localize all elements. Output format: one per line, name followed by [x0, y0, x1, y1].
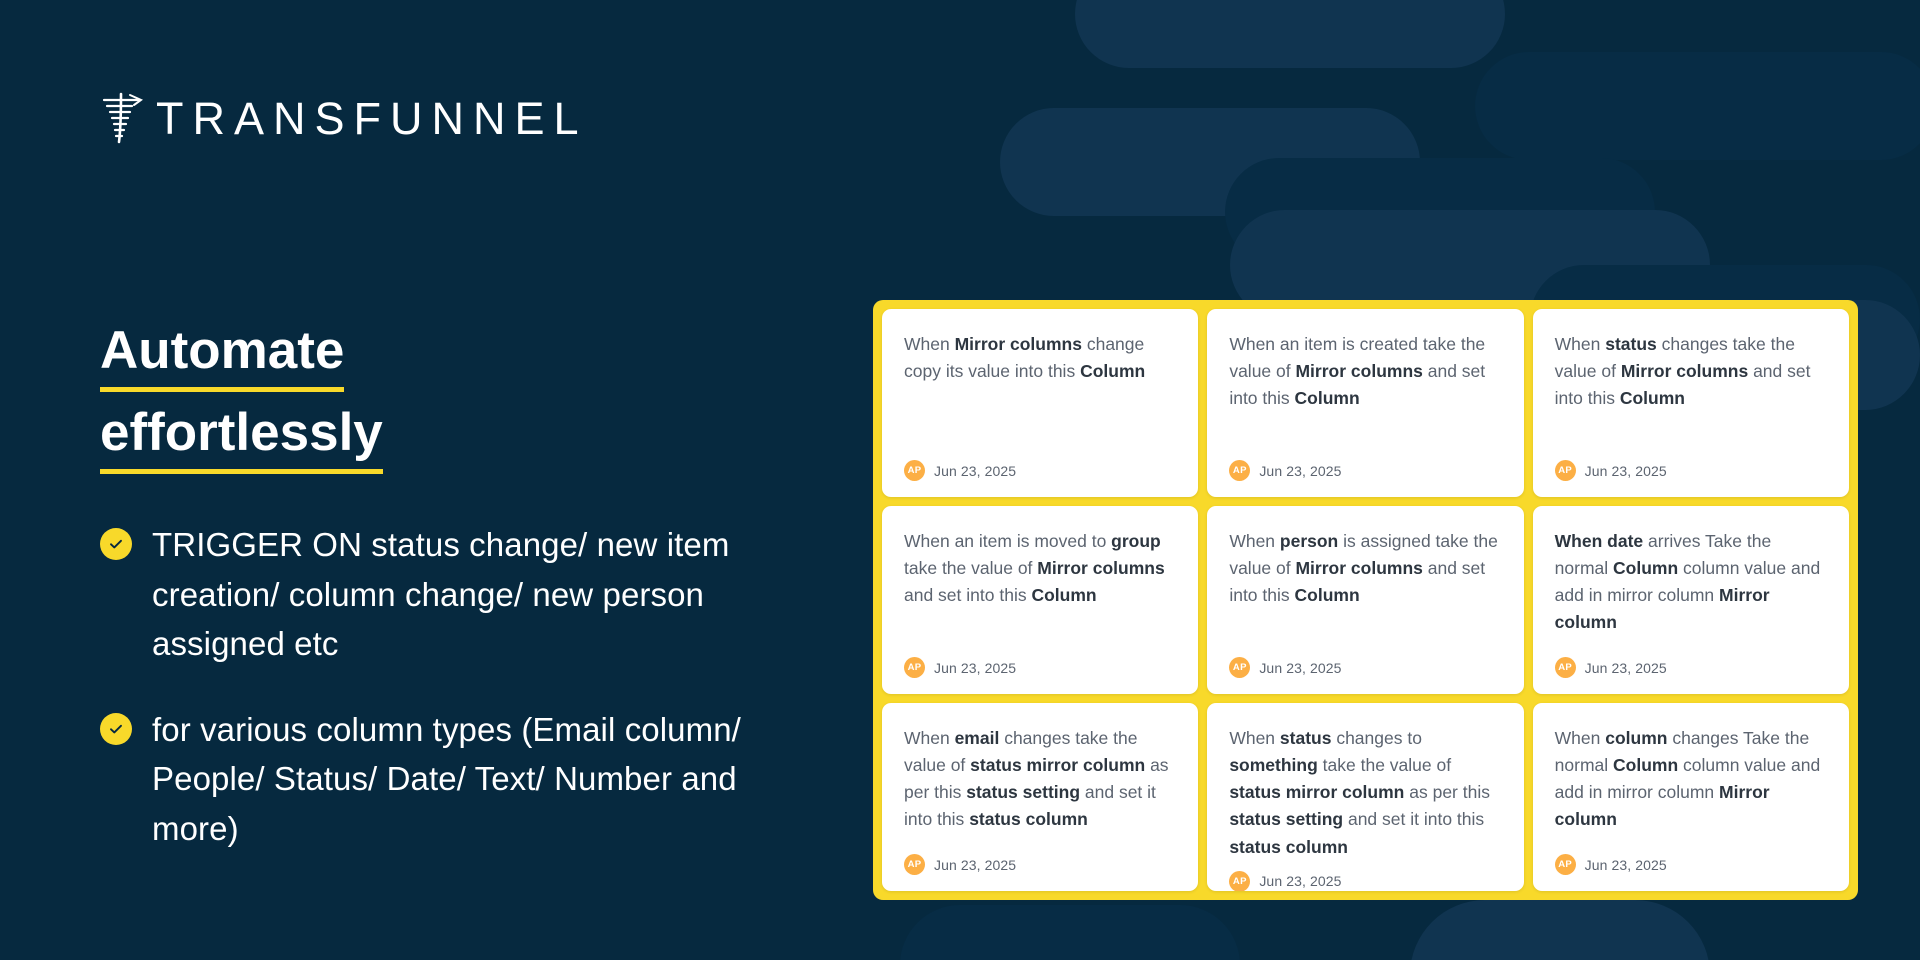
automation-card-footer: APJun 23, 2025: [904, 460, 1176, 481]
automation-card-footer: APJun 23, 2025: [1555, 657, 1827, 678]
headline-line-2: effortlessly: [100, 400, 383, 474]
automation-card-text: When person is assigned take the value o…: [1229, 528, 1501, 609]
automation-card[interactable]: When an item is created take the value o…: [1207, 309, 1523, 497]
brand-logo: TRANSFUNNEL: [100, 92, 588, 144]
avatar[interactable]: AP: [1229, 460, 1250, 481]
automation-card-text: When status changes to something take th…: [1229, 725, 1501, 861]
automation-card-date: Jun 23, 2025: [1259, 463, 1341, 479]
automation-card[interactable]: When column changes Take the normal Colu…: [1533, 703, 1849, 891]
avatar[interactable]: AP: [904, 460, 925, 481]
automation-card[interactable]: When status changes to something take th…: [1207, 703, 1523, 891]
automation-card[interactable]: When an item is moved to group take the …: [882, 506, 1198, 694]
automation-card-date: Jun 23, 2025: [1259, 660, 1341, 676]
automation-card-text: When status changes take the value of Mi…: [1555, 331, 1827, 412]
automation-card-footer: APJun 23, 2025: [904, 854, 1176, 875]
funnel-tornado-icon: [100, 92, 146, 144]
automation-card-date: Jun 23, 2025: [934, 463, 1016, 479]
bullet-text: for various column types (Email column/ …: [152, 705, 820, 854]
automation-card-text: When column changes Take the normal Colu…: [1555, 725, 1827, 834]
headline: Automate effortlessly: [100, 318, 720, 482]
deco-capsule: [1000, 108, 1420, 216]
bullet-list: TRIGGER ON status change/ new item creat…: [100, 520, 820, 889]
automation-card-date: Jun 23, 2025: [1585, 660, 1667, 676]
automation-card-footer: APJun 23, 2025: [1229, 871, 1501, 891]
deco-capsule: [1075, 0, 1505, 68]
automation-card[interactable]: When date arrives Take the normal Column…: [1533, 506, 1849, 694]
bullet-item: for various column types (Email column/ …: [100, 705, 820, 854]
automation-card-footer: APJun 23, 2025: [1555, 854, 1827, 875]
automation-card-text: When an item is moved to group take the …: [904, 528, 1176, 609]
deco-capsule: [1475, 52, 1920, 160]
deco-capsule: [900, 905, 1240, 960]
avatar[interactable]: AP: [904, 854, 925, 875]
deco-capsule: [1410, 900, 1710, 960]
avatar[interactable]: AP: [904, 657, 925, 678]
automation-card-date: Jun 23, 2025: [1259, 873, 1341, 889]
check-circle-icon: [100, 713, 132, 745]
automation-card[interactable]: When person is assigned take the value o…: [1207, 506, 1523, 694]
avatar[interactable]: AP: [1229, 657, 1250, 678]
automation-card[interactable]: When Mirror columns change copy its valu…: [882, 309, 1198, 497]
automation-card-date: Jun 23, 2025: [1585, 463, 1667, 479]
brand-name: TRANSFUNNEL: [156, 96, 588, 141]
automation-card[interactable]: When email changes take the value of sta…: [882, 703, 1198, 891]
headline-line-1: Automate: [100, 318, 344, 392]
check-circle-icon: [100, 528, 132, 560]
automation-card[interactable]: When status changes take the value of Mi…: [1533, 309, 1849, 497]
automation-card-footer: APJun 23, 2025: [1229, 657, 1501, 678]
automation-card-footer: APJun 23, 2025: [904, 657, 1176, 678]
automation-card-footer: APJun 23, 2025: [1229, 460, 1501, 481]
avatar[interactable]: AP: [1555, 460, 1576, 481]
automation-card-footer: APJun 23, 2025: [1555, 460, 1827, 481]
automation-card-date: Jun 23, 2025: [934, 660, 1016, 676]
automation-card-text: When date arrives Take the normal Column…: [1555, 528, 1827, 637]
bullet-text: TRIGGER ON status change/ new item creat…: [152, 520, 820, 669]
avatar[interactable]: AP: [1555, 854, 1576, 875]
automation-card-text: When email changes take the value of sta…: [904, 725, 1176, 834]
automation-card-date: Jun 23, 2025: [1585, 857, 1667, 873]
left-content-column: TRANSFUNNEL Automate effortlessly TRIGGE…: [100, 0, 860, 960]
automation-card-date: Jun 23, 2025: [934, 857, 1016, 873]
bullet-item: TRIGGER ON status change/ new item creat…: [100, 520, 820, 669]
automation-cards-panel: When Mirror columns change copy its valu…: [873, 300, 1858, 900]
automation-card-text: When an item is created take the value o…: [1229, 331, 1501, 412]
deco-capsule: [1225, 158, 1655, 266]
automation-card-text: When Mirror columns change copy its valu…: [904, 331, 1176, 385]
avatar[interactable]: AP: [1555, 657, 1576, 678]
avatar[interactable]: AP: [1229, 871, 1250, 891]
